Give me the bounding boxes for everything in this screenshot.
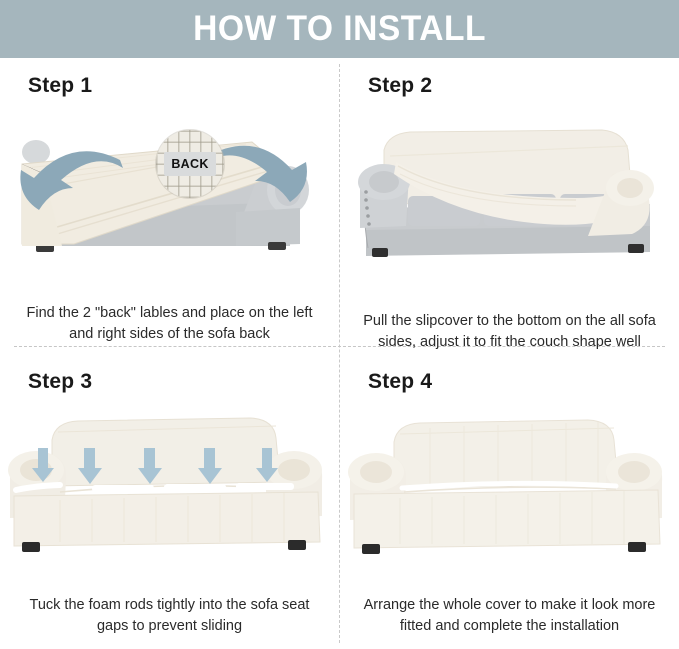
down-arrow-3 <box>138 448 162 484</box>
step-caption-1: Find the 2 "back" lables and place on th… <box>0 303 339 345</box>
step-caption-2: Pull the slipcover to the bottom on the … <box>340 311 679 353</box>
step-label-4: Step 4 <box>368 370 432 394</box>
install-guide-page: HOW TO INSTALL Step 1 <box>0 0 679 649</box>
step-panel-4: Step 4 <box>340 354 679 649</box>
step-2-illustration <box>340 116 679 266</box>
finished-sofa-svg <box>340 400 679 570</box>
back-label-badge: BACK <box>156 130 224 198</box>
down-arrow-2 <box>78 448 102 484</box>
down-arrow-5 <box>256 448 278 482</box>
step-4-illustration <box>340 400 679 570</box>
header-bar: HOW TO INSTALL <box>0 0 679 58</box>
steps-grid: Step 1 <box>0 58 679 649</box>
arrow-left-curved <box>20 151 123 210</box>
step-caption-4: Arrange the whole cover to make it look … <box>340 595 679 637</box>
step-3-arrows <box>0 400 339 570</box>
step-panel-2: Step 2 <box>340 58 679 353</box>
sofa-half-covered-svg <box>340 116 679 266</box>
step-panel-3: Step 3 <box>0 354 339 649</box>
step-label-2: Step 2 <box>368 74 432 98</box>
step-1-illustration: BACK <box>0 94 339 264</box>
step-caption-3: Tuck the foam rods tightly into the sofa… <box>0 595 339 637</box>
down-arrow-1 <box>32 448 54 482</box>
down-arrow-4 <box>198 448 222 484</box>
step-panel-1: Step 1 <box>0 58 339 353</box>
cream-back-cover <box>384 130 632 204</box>
back-tag-text: BACK <box>171 157 208 171</box>
cream-sofa-back-final <box>394 420 618 488</box>
step-label-3: Step 3 <box>28 370 92 394</box>
step-3-illustration <box>0 400 339 570</box>
back-tag: BACK <box>164 152 216 176</box>
cream-sofa-body-final <box>354 483 660 548</box>
page-title: HOW TO INSTALL <box>193 9 486 49</box>
